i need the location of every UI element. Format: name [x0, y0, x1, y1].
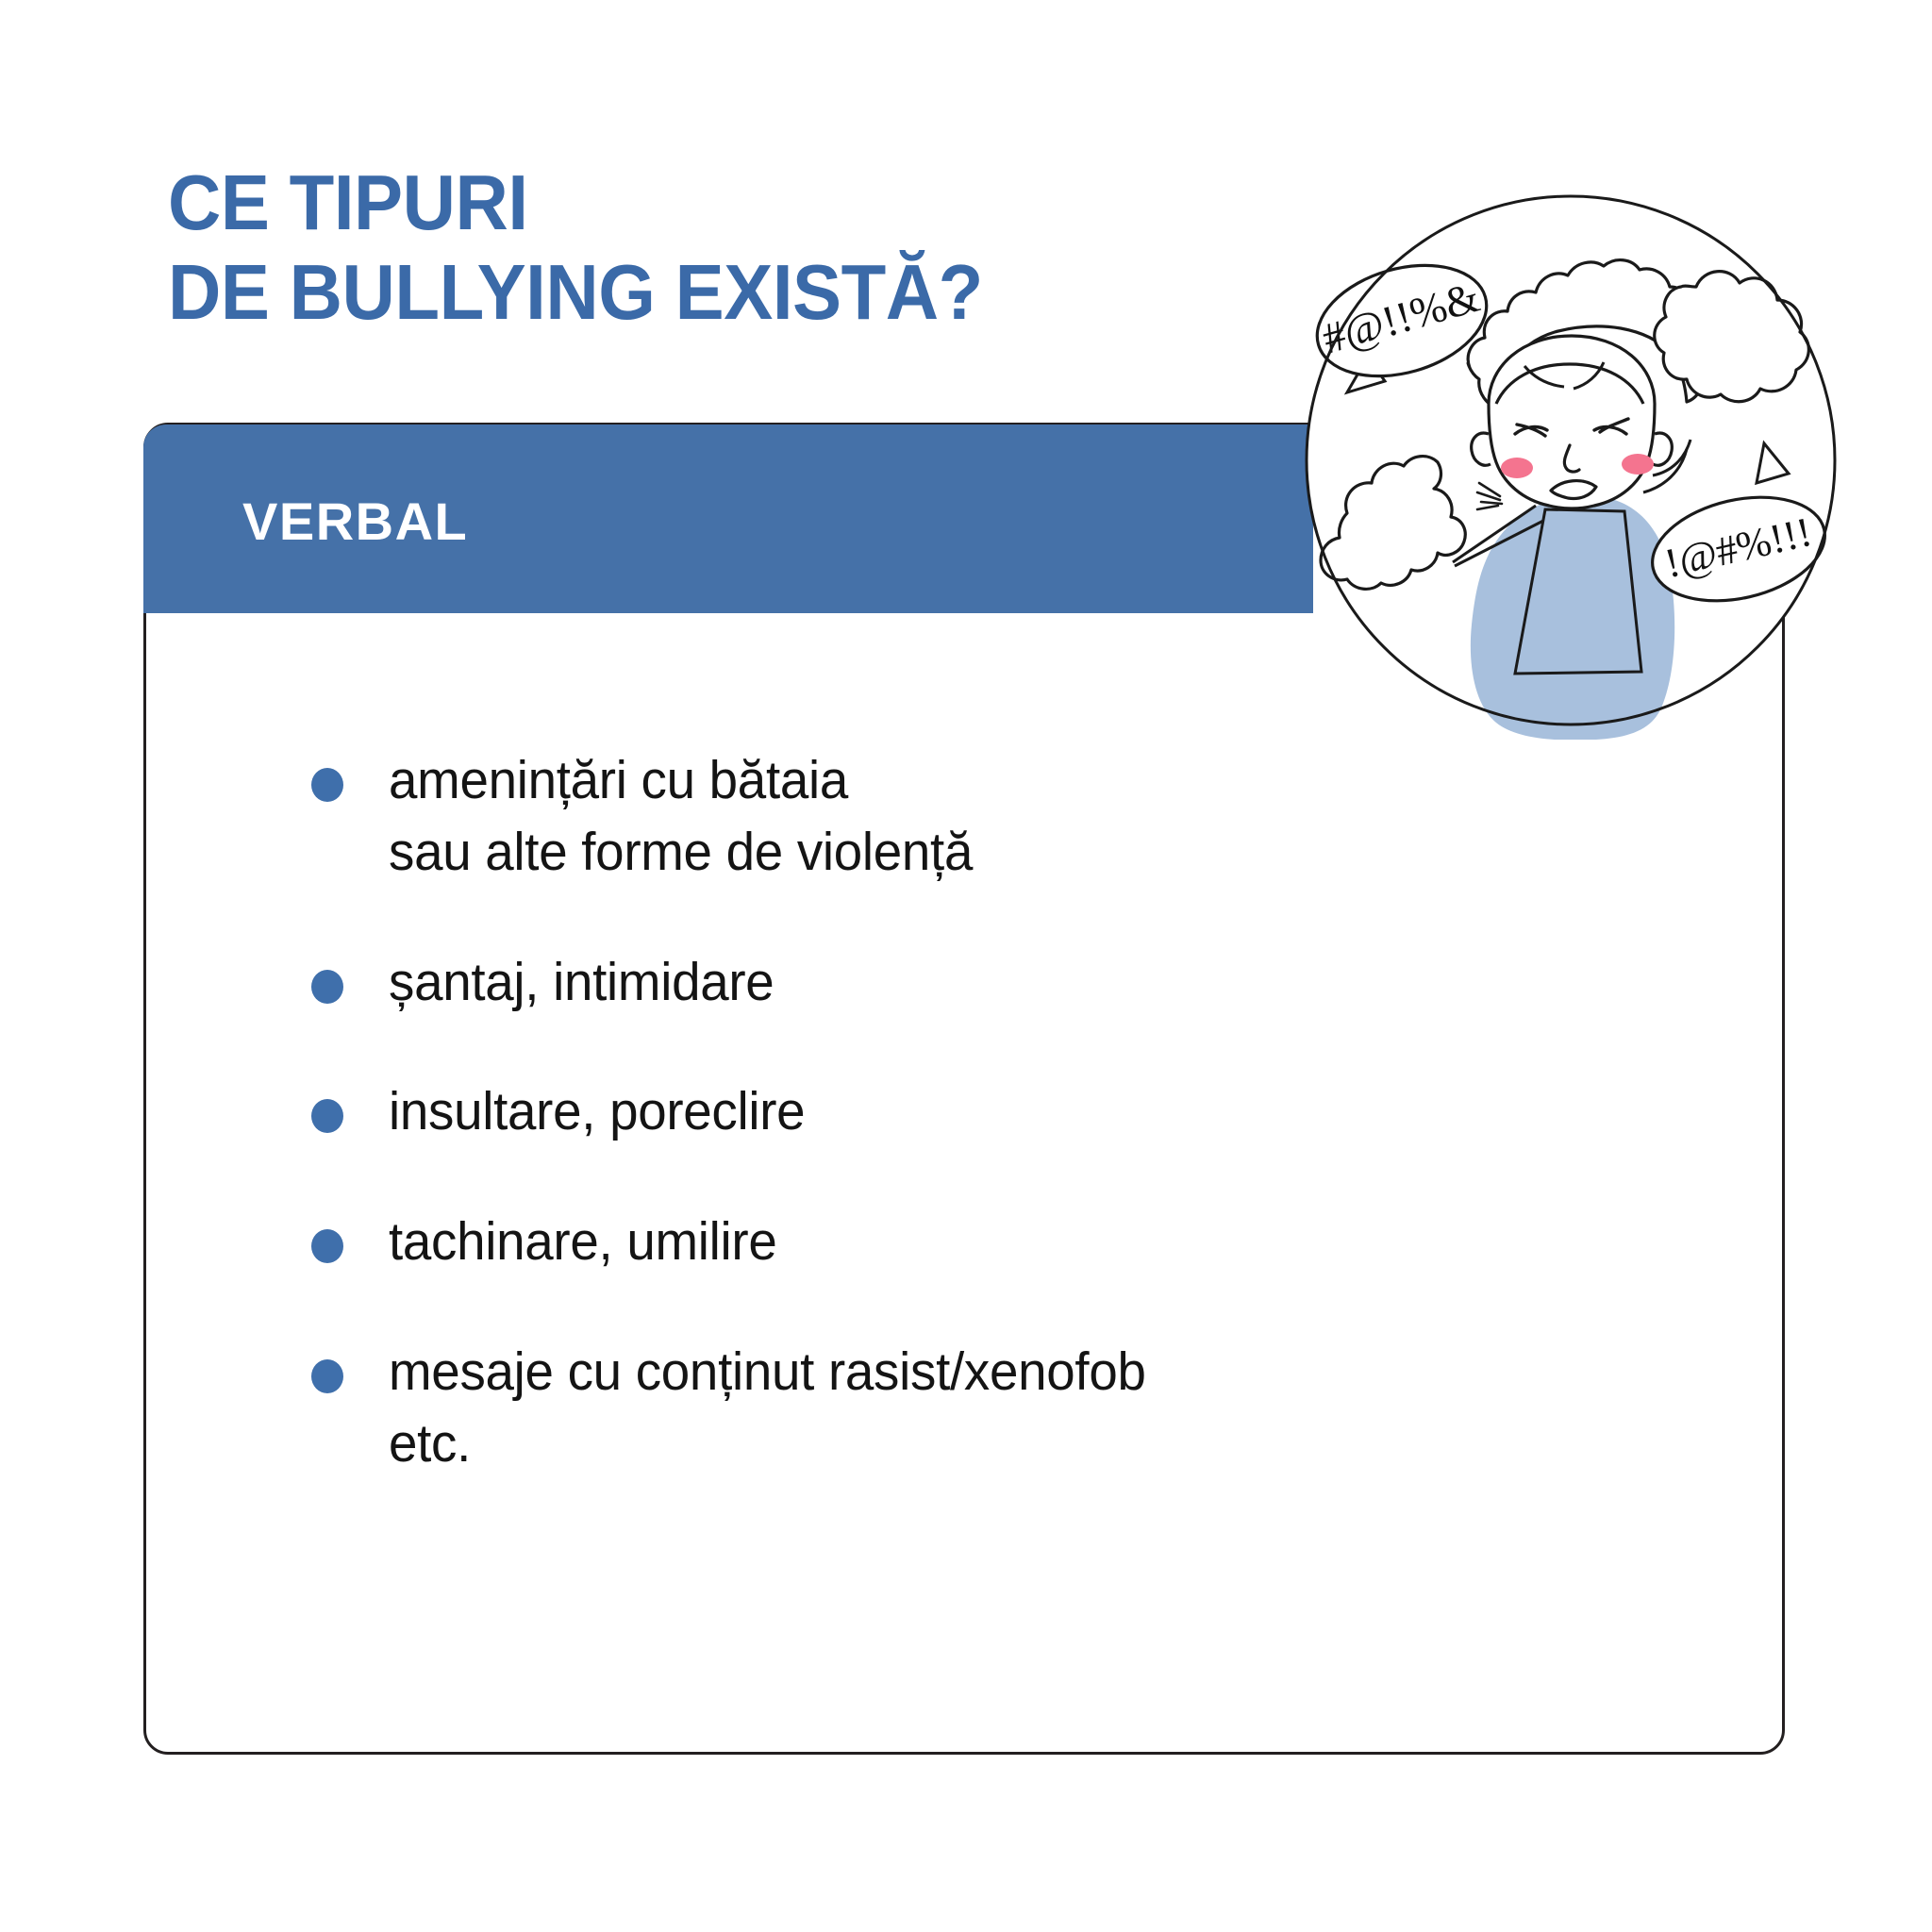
cheek-left-shape: [1501, 458, 1533, 478]
list-item-text: insultare, poreclire: [389, 1076, 1519, 1148]
list-item-line-2: etc.: [389, 1408, 1519, 1480]
upset-boy-illustration-svg: #@!!%& !@#%!!!: [1292, 181, 1849, 740]
list-item: insultare, poreclire: [311, 1076, 1566, 1148]
list-item-line-1: șantaj, intimidare: [389, 952, 774, 1012]
list-item-line-1: insultare, poreclire: [389, 1081, 805, 1141]
bullet-dot-icon: [311, 970, 343, 1004]
list-item-text: șantaj, intimidare: [389, 947, 1519, 1019]
card-header-bar: VERBAL: [143, 425, 1313, 613]
list-item-line-1: amenințări cu bătaia: [389, 750, 848, 810]
list-item-line-1: mesaje cu conținut rasist/xenofob: [389, 1341, 1146, 1402]
bullet-dot-icon: [311, 768, 343, 802]
list-item: șantaj, intimidare: [311, 947, 1566, 1019]
illustration-upset-boy: #@!!%& !@#%!!!: [1292, 181, 1849, 740]
bullet-dot-icon: [311, 1359, 343, 1393]
card-header-label: VERBAL: [242, 491, 468, 552]
list-item-text: mesaje cu conținut rasist/xenofob etc.: [389, 1337, 1519, 1480]
list-item-line-1: tachinare, umilire: [389, 1211, 776, 1272]
page-title: CE TIPURI DE BULLYING EXISTĂ?: [168, 158, 1232, 337]
bullying-types-list: amenințări cu bătaia sau alte forme de v…: [311, 745, 1566, 1480]
page-title-line-2: DE BULLYING EXISTĂ?: [168, 248, 1232, 338]
cheek-right-shape: [1622, 454, 1654, 475]
list-item-text: amenințări cu bătaia sau alte forme de v…: [389, 745, 1519, 889]
ear-left-shape: [1472, 433, 1491, 465]
list-item: amenințări cu bătaia sau alte forme de v…: [311, 745, 1566, 889]
list-item-text: tachinare, umilire: [389, 1207, 1519, 1278]
bullet-dot-icon: [311, 1229, 343, 1263]
list-item-line-2: sau alte forme de violență: [389, 817, 1519, 889]
bullet-dot-icon: [311, 1099, 343, 1133]
list-item: mesaje cu conținut rasist/xenofob etc.: [311, 1337, 1566, 1480]
poster-canvas: CE TIPURI DE BULLYING EXISTĂ? VERBAL ame…: [0, 0, 1932, 1932]
list-item: tachinare, umilire: [311, 1207, 1566, 1278]
ear-right-shape: [1653, 433, 1672, 465]
page-title-line-1: CE TIPURI: [168, 158, 1232, 248]
